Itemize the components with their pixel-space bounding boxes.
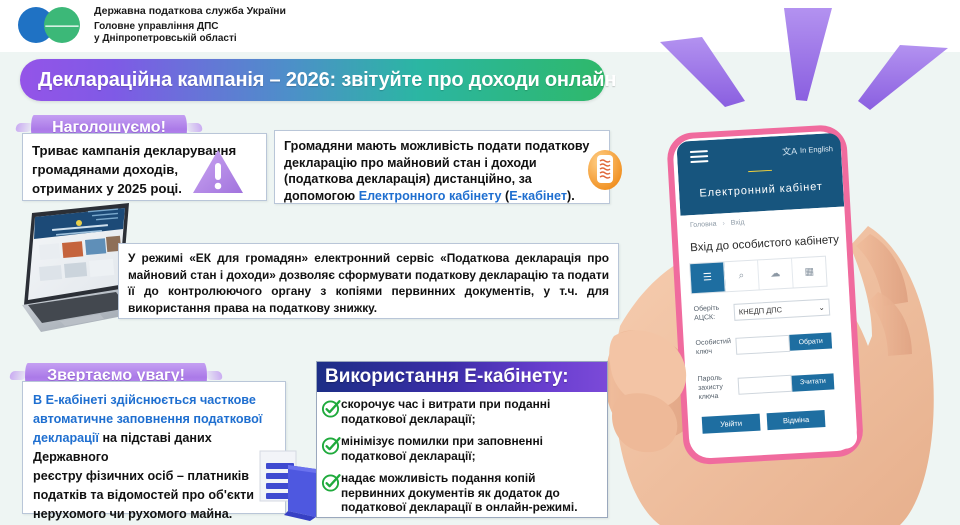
breadcrumb-home[interactable]: Головна [690,221,717,229]
panel-ek-benefits: Використання Е-кабінету: скорочує час і … [316,361,608,518]
link-e-cabinet-short[interactable]: Е-кабінет [509,189,567,203]
read-key-button[interactable]: Зчитати [792,373,835,391]
acsk-selected-value: КНЕДП ДПС [739,305,783,316]
choose-key-button[interactable]: Обрати [789,332,832,350]
dps-logo: ⸺ [16,4,92,46]
login-button[interactable]: Увійти [702,414,761,434]
login-method-tabs: ☰ ⌕ ☁ ▦ [689,256,828,295]
phone-page-heading: Вхід до особистого кабінету [690,234,839,254]
list-item: мінімізує помилки при заповненні податко… [321,434,601,463]
card-citizens-line4: допомогою Електронного кабінету (Е-кабін… [284,188,599,205]
card-auto-fill-line3: декларації на підставі даних Державного [33,429,273,467]
folder-documents-icon [258,449,320,521]
language-switch[interactable]: 文A In English [782,142,834,158]
card-ek-service-description: У режимі «ЕК для громадян» електронний с… [118,243,619,319]
list-item: скорочує час і витрати при поданні подат… [321,397,601,426]
org-title-line1: Державна податкова служба України [94,5,286,18]
card-citizens-line3: (податкова декларація) дистанційно, за [284,171,599,188]
list-item: надає можливість подання копій первинних… [321,471,601,515]
logo-green-circle-icon: ⸺ [44,7,80,43]
card-citizens-line4-post: ). [567,189,575,203]
acsk-select[interactable]: КНЕДП ДПС ⌄ [733,298,830,320]
field-acsk-row: Оберіть АЦСК: КНЕДП ДПС ⌄ [693,298,830,324]
login-actions: Увійти Відміна [702,410,833,434]
check-circle-icon [321,435,342,456]
phone-page-body: Головна › Вхід Вхід до особистого кабіне… [680,207,857,458]
language-label: In English [800,144,833,155]
card-citizens-body: Громадяни мають можливість подати податк… [275,131,609,204]
card-citizens-line1: Громадяни мають можливість подати податк… [284,138,599,155]
cancel-button[interactable]: Відміна [767,410,826,430]
panel-ek-benefits-title: Використання Е-кабінету: [317,366,569,388]
organization-header: ⸺ Державна податкова служба України Голо… [16,4,286,46]
breadcrumb-separator-icon: › [722,220,725,227]
org-title-line2: Головне управління ДПС [94,21,286,34]
warning-triangle-icon [190,146,246,196]
tab-file-key[interactable]: ☰ [690,262,726,293]
phone-site-title: Електронний кабінет [679,180,843,201]
list-item-label: надає можливість подання копій первинних… [341,471,601,515]
check-circle-icon [321,472,342,493]
hamburger-menu-icon[interactable] [690,150,709,163]
card-citizens-can-submit: Громадяни мають можливість подати податк… [274,130,610,204]
card-auto-fill-line4: реєстру фізичних осіб – платників [33,467,273,486]
trident-icon: ⸺ [44,15,79,36]
card-auto-fill-body: В Е-кабінеті здійснюється часткове автом… [23,382,285,524]
private-key-input[interactable] [735,334,790,354]
card-auto-fill-line1: В Е-кабінеті здійснюється часткове [33,391,273,410]
breadcrumb: Головна › Вхід [690,219,745,229]
phone-screen: 文A In English ⸺ Електронний кабінет Голо… [676,133,857,458]
breadcrumb-current: Вхід [731,219,745,227]
list-item-label: мінімізує помилки при заповненні податко… [341,434,601,463]
tab-qr[interactable]: ▦ [792,257,827,288]
card-auto-fill-line6: нерухомого чи рухомого майна. [33,505,273,524]
card-auto-fill-line3-link: декларації [33,431,99,445]
panel-ek-benefits-list: скорочує час і витрати при поданні подат… [317,392,607,515]
list-item-label: скорочує час і витрати при поданні подат… [341,397,601,426]
phone-site-header: 文A In English ⸺ Електронний кабінет [676,133,844,216]
scroll-document-icon [585,146,625,192]
card-citizens-line2: декларацію про майновий стан і доходи [284,155,599,172]
organization-name-block: Державна податкова служба України Головн… [94,5,286,46]
chevron-down-icon: ⌄ [818,302,825,311]
card-citizens-line4-pre: допомогою [284,189,359,203]
card-auto-fill-line2: автоматичне заповнення податкової [33,410,273,429]
link-electronic-cabinet[interactable]: Електронного кабінету [359,189,502,203]
main-title-text: Декларацiйна кампанія – 2026: звітуйте п… [20,69,616,92]
key-password-input[interactable] [738,375,793,395]
card-ek-service-text: У режимі «ЕК для громадян» електронний с… [119,244,618,316]
translate-icon: 文A [782,144,798,158]
field-acsk-label: Оберіть АЦСК: [693,303,734,323]
field-password-row: Пароль захисту ключа Зчитати [697,367,834,402]
check-circle-icon [321,398,342,419]
tab-cloud[interactable]: ☁ [758,259,794,290]
field-password-label: Пароль захисту ключа [697,373,738,402]
field-key-label: Особистий ключ [695,337,736,357]
panel-ek-benefits-header: Використання Е-кабінету: [317,362,607,392]
main-title-banner: Декларацiйна кампанія – 2026: звітуйте п… [20,59,605,101]
field-key-row: Особистий ключ Обрати [695,331,832,357]
infographic-root: ⸺ Державна податкова служба України Голо… [0,0,960,525]
card-auto-fill: В Е-кабінеті здійснюється часткове автом… [22,381,286,514]
org-title-line3: у Дніпропетровській області [94,33,286,46]
tab-search[interactable]: ⌕ [724,260,760,291]
card-auto-fill-line5: податків та відомостей про об'єкти [33,486,273,505]
